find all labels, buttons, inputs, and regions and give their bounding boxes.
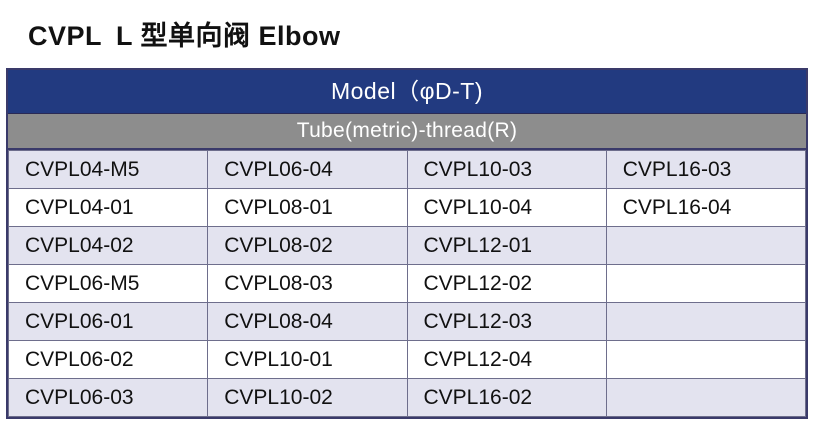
table-row: CVPL04-02 CVPL08-02 CVPL12-01 (9, 227, 806, 265)
table-row: CVPL04-01 CVPL08-01 CVPL10-04 CVPL16-04 (9, 189, 806, 227)
model-cell: CVPL10-03 (407, 151, 606, 189)
model-cell: CVPL08-04 (208, 303, 407, 341)
model-cell: CVPL12-04 (407, 341, 606, 379)
model-table: Model（φD-T) Tube(metric)-thread(R) CVPL0… (6, 68, 808, 419)
model-cell: CVPL08-03 (208, 265, 407, 303)
model-cell: CVPL12-03 (407, 303, 606, 341)
model-cell: CVPL06-M5 (9, 265, 208, 303)
model-cell: CVPL04-M5 (9, 151, 208, 189)
model-cell: CVPL08-01 (208, 189, 407, 227)
table-row: CVPL04-M5 CVPL06-04 CVPL10-03 CVPL16-03 (9, 151, 806, 189)
model-cell: CVPL10-01 (208, 341, 407, 379)
model-cell: CVPL04-01 (9, 189, 208, 227)
table-row: CVPL06-02 CVPL10-01 CVPL12-04 (9, 341, 806, 379)
model-cell: CVPL16-03 (606, 151, 805, 189)
model-cell: CVPL16-04 (606, 189, 805, 227)
model-cell: CVPL06-01 (9, 303, 208, 341)
table-row: CVPL06-03 CVPL10-02 CVPL16-02 (9, 379, 806, 417)
model-cell-empty (606, 303, 805, 341)
model-cell: CVPL10-04 (407, 189, 606, 227)
model-cell-empty (606, 379, 805, 417)
model-cell: CVPL04-02 (9, 227, 208, 265)
model-cell-empty (606, 265, 805, 303)
table-row: CVPL06-M5 CVPL08-03 CVPL12-02 (9, 265, 806, 303)
model-cell: CVPL06-03 (9, 379, 208, 417)
product-spec-page: CVPLL 型单向阀 Elbow Model（φD-T) Tube(metric… (0, 0, 814, 423)
model-cell: CVPL16-02 (407, 379, 606, 417)
model-cell: CVPL06-04 (208, 151, 407, 189)
model-cell-empty (606, 341, 805, 379)
title-name-en: Elbow (259, 21, 341, 51)
model-cell: CVPL06-02 (9, 341, 208, 379)
model-grid: CVPL04-M5 CVPL06-04 CVPL10-03 CVPL16-03 … (8, 150, 806, 417)
table-row: CVPL06-01 CVPL08-04 CVPL12-03 (9, 303, 806, 341)
model-cell-empty (606, 227, 805, 265)
model-cell: CVPL10-02 (208, 379, 407, 417)
page-title: CVPLL 型单向阀 Elbow (0, 0, 814, 53)
title-code: CVPL (28, 21, 102, 51)
model-cell: CVPL12-01 (407, 227, 606, 265)
model-cell: CVPL08-02 (208, 227, 407, 265)
table-header-model: Model（φD-T) (8, 70, 806, 114)
table-header-sub: Tube(metric)-thread(R) (8, 114, 806, 150)
title-name-cn: L 型单向阀 (116, 21, 251, 51)
model-cell: CVPL12-02 (407, 265, 606, 303)
